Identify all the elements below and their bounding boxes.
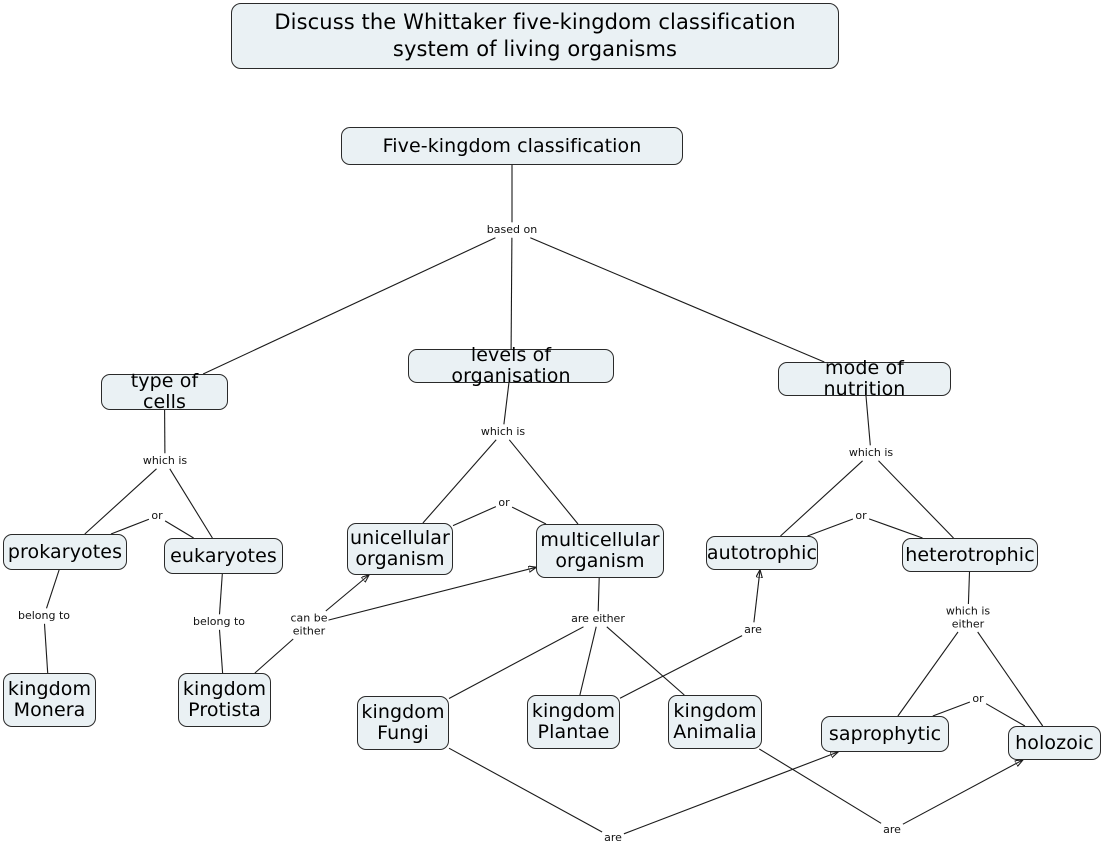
concept-node-eukaryotes[interactable]: eukaryotes [164, 538, 283, 574]
link-label-belong_to_protista[interactable]: belong to [192, 616, 246, 629]
link-label-which_is_nutrition[interactable]: which is [848, 447, 894, 460]
edge-whichisnutr-auto [781, 461, 863, 536]
concept-node-root[interactable]: Five-kingdom classification [341, 127, 683, 165]
concept-node-holozoic[interactable]: holozoic [1008, 726, 1101, 760]
link-label-which_is_levels[interactable]: which is [480, 426, 526, 439]
edge-whichis-prokaryotes [85, 469, 157, 534]
edge-or-eukaryotes [165, 521, 194, 538]
map-title-text: Discuss the Whittaker five-kingdom class… [274, 9, 795, 63]
edge-areeither-plantae [580, 627, 596, 695]
edge-basedon-levels [511, 238, 512, 349]
link-label-are_either[interactable]: are either [570, 613, 626, 626]
edge-or-prokaryotes [111, 519, 149, 534]
edge-belongto-protista [220, 630, 223, 673]
concept-node-heterotrophic[interactable]: heterotrophic [902, 538, 1038, 572]
link-label-belong_to_monera[interactable]: belong to [17, 610, 71, 623]
edge-orlevels-uni [453, 507, 496, 526]
concept-node-label: prokaryotes [8, 542, 122, 563]
link-label-or_nutrition[interactable]: or [854, 510, 867, 523]
edge-levels-whichis [504, 383, 509, 424]
edge-orhetero-sapro [933, 702, 970, 716]
edge-basedon-mode [530, 238, 824, 362]
edge-belongto-monera [45, 624, 48, 673]
concept-node-label: type of cells [110, 371, 219, 413]
map-title-box: Discuss the Whittaker five-kingdom class… [231, 3, 839, 69]
concept-node-label: kingdom Fungi [361, 702, 444, 744]
concept-node-label: levels of organisation [417, 345, 605, 387]
link-label-or_hetero[interactable]: or [971, 693, 984, 706]
edge-mode-whichis [866, 396, 870, 445]
concept-node-plantae[interactable]: kingdom Plantae [527, 695, 620, 749]
concept-map-canvas: Discuss the Whittaker five-kingdom class… [0, 0, 1103, 846]
concept-node-label: kingdom Animalia [673, 701, 756, 743]
link-label-are_fungi_sapro[interactable]: are [603, 832, 623, 845]
concept-node-label: holozoic [1015, 733, 1094, 754]
edge-whichiseither-holo [978, 632, 1043, 726]
link-label-can_be_either[interactable]: can be either [289, 613, 328, 638]
concept-node-label: saprophytic [829, 724, 941, 745]
edge-orlevels-multi [512, 507, 546, 524]
concept-node-mode_nutr[interactable]: mode of nutrition [778, 362, 951, 396]
concept-node-label: kingdom Protista [183, 679, 266, 721]
edge-canbe-unicellular [326, 575, 369, 611]
link-label-which_is_cells[interactable]: which is [142, 455, 188, 468]
link-label-which_is_either[interactable]: which is either [945, 606, 991, 631]
edge-whichislevels-uni [423, 440, 496, 523]
concept-node-label: eukaryotes [170, 546, 277, 567]
edge-protista-canbe [255, 639, 293, 673]
edge-prokaryotes-belongto [47, 570, 60, 608]
edge-canbe-multicellular [328, 567, 536, 620]
concept-node-type_cells[interactable]: type of cells [101, 374, 228, 410]
concept-node-label: unicellular organism [350, 528, 450, 570]
concept-node-autotrophic[interactable]: autotrophic [706, 536, 818, 570]
concept-node-label: heterotrophic [905, 545, 1035, 566]
concept-node-levels_org[interactable]: levels of organisation [408, 349, 614, 383]
concept-node-protista[interactable]: kingdom Protista [178, 673, 271, 727]
edge-areeither-fungi [449, 627, 584, 699]
concept-node-label: autotrophic [707, 543, 817, 564]
edge-animalia-are [759, 749, 881, 823]
edge-whichiseither-sapro [898, 632, 958, 716]
edge-ornutr-auto [808, 519, 853, 536]
concept-node-prokaryotes[interactable]: prokaryotes [3, 534, 127, 570]
concept-node-saprophytic[interactable]: saprophytic [821, 716, 949, 752]
concept-node-label: Five-kingdom classification [383, 136, 642, 157]
edge-orhetero-holo [986, 704, 1025, 726]
edge-eukaryotes-belongto [220, 574, 223, 614]
concept-node-animalia[interactable]: kingdom Animalia [668, 695, 762, 749]
concept-node-unicellular[interactable]: unicellular organism [347, 523, 453, 575]
edge-are-holozoic [903, 760, 1023, 824]
edge-hetero-whichiseither [968, 572, 969, 604]
concept-node-label: mode of nutrition [787, 358, 942, 400]
concept-node-label: kingdom Plantae [532, 701, 615, 743]
edge-fungi-are [449, 748, 602, 832]
edge-multi-areeither [598, 578, 599, 611]
link-label-are_animalia_holo[interactable]: are [882, 824, 902, 837]
concept-node-multicellular[interactable]: multicellular organism [536, 524, 664, 578]
concept-node-label: kingdom Monera [8, 679, 91, 721]
concept-node-label: multicellular organism [540, 530, 659, 572]
link-label-or_levels[interactable]: or [497, 497, 510, 510]
link-label-based_on[interactable]: based on [486, 224, 538, 237]
edge-are-autotrophic [754, 570, 760, 622]
link-label-or_cells[interactable]: or [150, 510, 163, 523]
concept-node-fungi[interactable]: kingdom Fungi [357, 696, 449, 750]
concept-node-monera[interactable]: kingdom Monera [3, 673, 96, 727]
link-label-are_plantae_auto[interactable]: are [743, 624, 763, 637]
edge-plantae-are [620, 636, 742, 699]
edge-ornutr-hetero [869, 519, 922, 538]
edge-are-saprophytic [624, 752, 838, 834]
